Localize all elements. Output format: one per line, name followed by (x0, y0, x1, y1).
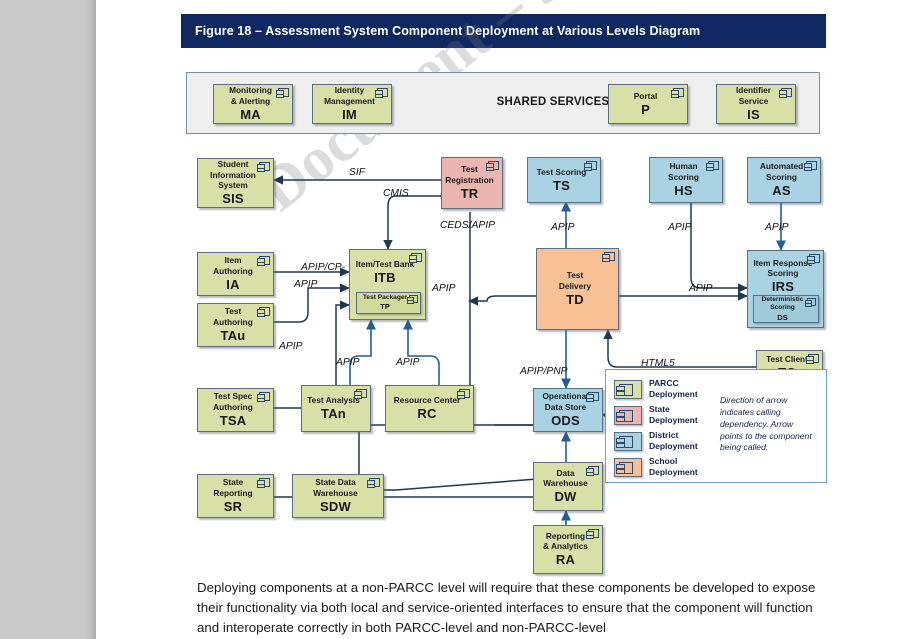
uml-component-icon (619, 410, 633, 422)
component-abbr: SDW (320, 499, 351, 515)
component-abbr: TD (566, 292, 584, 308)
uml-component-icon (278, 88, 289, 97)
uml-component-icon (588, 392, 599, 401)
edge-label-ceds-apip: CEDS/APIP (440, 220, 495, 231)
component-name-line1: Test (225, 306, 241, 316)
component-name-line1: Deterministic (762, 296, 804, 304)
component-name-line1: Identifier (736, 85, 771, 95)
component-name-line2: Registration (445, 175, 493, 185)
component-name-line1: Test Packager (363, 294, 407, 302)
edge-label-apip-irs: APIP (689, 283, 712, 294)
component-abbr: TAn (321, 406, 346, 422)
component-name-line1: Operational (542, 391, 588, 401)
component-abbr: AS (772, 183, 790, 199)
component-tan[interactable]: Test Analysis TAn (301, 385, 371, 432)
component-is[interactable]: Identifier Service IS (716, 84, 796, 124)
component-name-line2: Warehouse (313, 488, 357, 498)
component-name-line2: & Analytics (543, 541, 588, 551)
edge-label-apip-tau: APIP (294, 279, 317, 290)
edge-label-apip-tsa: APIP (279, 341, 302, 352)
edge-label-apip-tan: APIP (336, 357, 359, 368)
component-abbr: P (641, 102, 650, 118)
component-abbr: HS (674, 183, 692, 199)
uml-component-icon (619, 384, 633, 396)
page-gutter (0, 0, 96, 639)
component-abbr: TS (553, 178, 570, 194)
component-abbr: IS (747, 107, 760, 123)
component-rc[interactable]: Resource Center RC (385, 385, 474, 432)
body-paragraph: Deploying components at a non-PARCC leve… (197, 578, 822, 639)
legend-note: Direction of arrow indicates calling dep… (720, 395, 818, 454)
component-abbr: TP (380, 302, 390, 311)
uml-component-icon (619, 462, 633, 474)
uml-component-icon (409, 295, 418, 303)
component-name-line2: Management (324, 96, 375, 106)
edge-label-apip-pnp: APIP/PNP (520, 366, 568, 377)
component-name-line2: Scoring (768, 268, 799, 278)
component-name-line2: Scoring (770, 304, 795, 312)
legend-label-line1: PARCC (649, 378, 679, 388)
component-ia[interactable]: Item Authoring IA (197, 252, 274, 296)
component-sdw[interactable]: State Data Warehouse SDW (292, 474, 384, 518)
component-name-line2: Scoring (766, 172, 797, 182)
uml-component-icon (588, 529, 599, 538)
component-abbr: TSA (220, 413, 247, 429)
component-abbr: IRS (772, 279, 794, 295)
component-name-line1: Test (567, 270, 583, 280)
component-name-line1: State (223, 477, 243, 487)
component-ds[interactable]: Deterministic Scoring DS (753, 295, 819, 323)
component-name-line2: Authoring (213, 402, 253, 412)
uml-component-icon (604, 252, 615, 261)
component-tr[interactable]: Test Registration TR (441, 157, 503, 209)
component-name-line1: Human (669, 161, 697, 171)
document-page: Figure 18 – Assessment System Component … (96, 0, 908, 639)
uml-component-icon (377, 88, 388, 97)
uml-component-icon (808, 354, 819, 363)
legend-item-state: State Deployment (614, 404, 698, 427)
component-name-line2: Warehouse (543, 478, 587, 488)
component-itb[interactable]: Item/Test Bank ITB Test Packager TP (349, 249, 426, 320)
uml-component-icon (619, 436, 633, 448)
edge-label-sif: SIF (349, 167, 365, 178)
legend-label-state: State Deployment (649, 404, 698, 427)
component-name-line1: Test Spec (214, 391, 253, 401)
component-tsa[interactable]: Test Spec Authoring TSA (197, 388, 274, 432)
component-name-line2: Authoring (213, 317, 253, 327)
uml-component-icon (673, 88, 684, 97)
legend-swatch-parcc-icon (614, 380, 642, 399)
component-p[interactable]: Portal P (608, 84, 688, 124)
component-name-line1: Item (224, 255, 241, 265)
component-abbr: IA (226, 277, 239, 293)
legend-item-school: School Deployment (614, 456, 698, 479)
component-name-line2: Data Store (545, 402, 587, 412)
component-name-line1: Test Client (766, 354, 808, 364)
deployment-diagram: Document – Subject To Change SHARED SERV… (96, 0, 908, 639)
edge-label-apip-ts: APIP (551, 222, 574, 233)
component-name-line1: Automated (760, 161, 803, 171)
component-name-line2: Authoring (213, 266, 253, 276)
legend-label-line2: Deployment (649, 389, 698, 399)
uml-component-icon (708, 161, 719, 170)
component-ma[interactable]: Monitoring & Alerting MA (213, 84, 293, 124)
uml-component-icon (259, 307, 270, 316)
legend-swatch-district-icon (614, 432, 642, 451)
component-tau[interactable]: Test Authoring TAu (197, 303, 274, 347)
legend-label-line2: Deployment (649, 441, 698, 451)
uml-component-icon (459, 389, 470, 398)
uml-component-icon (588, 466, 599, 475)
edge-label-apip-hs: APIP (668, 222, 691, 233)
component-im[interactable]: Identity Management IM (312, 84, 392, 124)
component-name-line2: & Alerting (231, 96, 270, 106)
component-name-line2: Reporting (213, 488, 252, 498)
component-abbr: DS (777, 313, 788, 322)
component-sis[interactable]: Student Information System SIS (197, 158, 274, 208)
uml-component-icon (781, 88, 792, 97)
component-dw[interactable]: Data Warehouse DW (533, 462, 603, 511)
component-ts[interactable]: Test Scoring TS (527, 157, 601, 203)
component-ra[interactable]: Reporting & Analytics RA (533, 525, 603, 574)
uml-component-icon (356, 389, 367, 398)
component-name-line1: Test Analysis (307, 395, 360, 405)
edge-label-html5: HTML5 (641, 358, 675, 369)
edge-label-apip-cp: APIP (432, 283, 455, 294)
component-abbr: ODS (551, 413, 580, 429)
uml-component-icon (807, 298, 816, 306)
component-as[interactable]: Automated Scoring AS (747, 157, 821, 203)
component-abbr: RC (417, 406, 436, 422)
edge-label-apip-as: APIP (765, 222, 788, 233)
component-name-line1: Portal (634, 91, 658, 101)
uml-component-icon (488, 161, 499, 170)
component-abbr: TAu (221, 328, 246, 344)
component-irs[interactable]: Item Response Scoring IRS Deterministic … (747, 250, 824, 328)
component-hs[interactable]: Human Scoring HS (649, 157, 723, 203)
component-abbr: SIS (222, 191, 244, 207)
component-ods[interactable]: Operational Data Store ODS (533, 388, 603, 432)
uml-component-icon (259, 256, 270, 265)
legend-label-line2: Deployment (649, 415, 698, 425)
component-abbr: TR (461, 186, 479, 202)
component-tp[interactable]: Test Packager TP (356, 292, 421, 314)
uml-component-icon (411, 253, 422, 262)
component-name-line1: Resource Center (394, 395, 460, 405)
component-name-line2: Service (739, 96, 769, 106)
legend-label-line2: Deployment (649, 467, 698, 477)
component-name-line1: Item Response (753, 258, 812, 268)
legend-label-parcc: PARCC Deployment (649, 378, 698, 401)
uml-component-icon (259, 478, 270, 487)
component-abbr: IM (342, 107, 357, 123)
uml-component-icon (259, 392, 270, 401)
uml-component-icon (809, 254, 820, 263)
component-name-line1: Test Scoring (537, 167, 587, 177)
component-name-line1: Monitoring (229, 85, 272, 95)
component-name-line1: Data (557, 468, 575, 478)
component-name-line1: State Data (315, 477, 356, 487)
uml-component-icon (369, 478, 380, 487)
legend-label-line1: District (649, 430, 678, 440)
component-abbr: DW (554, 489, 576, 505)
component-td[interactable]: Test Delivery TD (536, 248, 619, 330)
legend-swatch-school-icon (614, 458, 642, 477)
component-sr[interactable]: State Reporting SR (197, 474, 274, 518)
legend-label-line1: State (649, 404, 670, 414)
component-abbr: RA (556, 552, 575, 568)
legend-item-district: District Deployment (614, 430, 698, 453)
edge-label-apip-ia: APIP/CP- (301, 262, 345, 273)
component-abbr: SR (224, 499, 242, 515)
component-name-line1: Test (461, 164, 477, 174)
component-abbr: ITB (374, 270, 396, 286)
component-name-line2: Scoring (668, 172, 699, 182)
component-name-line1: Item/Test Bank (356, 259, 414, 269)
legend-item-parcc: PARCC Deployment (614, 378, 698, 401)
uml-component-icon (806, 161, 817, 170)
component-name-line1: Identity (335, 85, 365, 95)
uml-component-icon (259, 162, 270, 171)
legend-label-district: District Deployment (649, 430, 698, 453)
edge-label-apip-rc: APIP (396, 357, 419, 368)
component-name-line2: Delivery (559, 281, 591, 291)
uml-component-icon (586, 161, 597, 170)
legend-label-school: School Deployment (649, 456, 698, 479)
legend-swatch-state-icon (614, 406, 642, 425)
edge-label-cmis: CMIS (383, 188, 409, 199)
component-abbr: MA (240, 107, 261, 123)
component-name-line1: Reporting (546, 531, 585, 541)
legend-label-line1: School (649, 456, 677, 466)
component-name-line1: Student Information (201, 159, 265, 179)
component-name-line2: System (218, 180, 248, 190)
